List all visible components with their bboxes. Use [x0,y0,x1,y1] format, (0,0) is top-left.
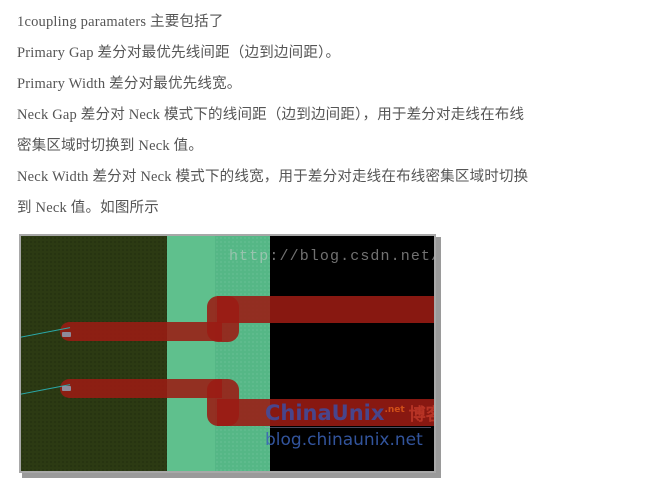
watermark-divider [265,427,431,428]
watermark-chinaunix-url: blog.chinaunix.net [265,430,434,450]
region-green-plain [167,236,215,471]
paragraph-primary-width: Primary Width 差分对最优先线宽。 [17,69,647,100]
pad-negative [62,386,71,391]
watermark-chinaunix-cn: 博客 [409,405,434,425]
paragraph-primary-gap: Primary Gap 差分对最优先线间距（边到边间距）。 [17,38,647,69]
paragraph-neck-gap-line2: 密集区域时切换到 Neck 值。 [17,131,647,162]
paragraph-neck-width-line2: 到 Neck 值。如图所示 [17,193,647,224]
region-green-textured [215,236,270,471]
watermark-chinaunix-name: ChinaUnix [265,401,384,425]
watermark-chinaunix: ChinaUnix.net博客 blog.chinaunix.net [265,399,434,450]
region-keepout-olive [21,236,167,471]
paragraph-neck-gap-line1: Neck Gap 差分对 Neck 模式下的线间距（边到边间距），用于差分对走线… [17,100,647,131]
pad-positive [62,332,71,337]
figure-border: http://blog.csdn.net/ ChinaUnix.net博客 bl… [19,234,436,473]
pcb-layout-canvas: http://blog.csdn.net/ ChinaUnix.net博客 bl… [21,236,434,471]
figure-differential-pair: http://blog.csdn.net/ ChinaUnix.net博客 bl… [19,234,441,478]
trace-positive-neck-segment [217,296,434,323]
article-body: 1coupling paramaters 主要包括了 Primary Gap 差… [17,0,647,224]
watermark-csdn-url: http://blog.csdn.net/ [229,248,434,265]
trace-negative-primary-segment [60,379,222,398]
paragraph-coupling-intro: 1coupling paramaters 主要包括了 [17,0,647,38]
paragraph-neck-width-line1: Neck Width 差分对 Neck 模式下的线宽，用于差分对走线在布线密集区… [17,162,647,193]
watermark-chinaunix-logo: ChinaUnix.net博客 [265,399,434,426]
trace-positive-primary-segment [60,322,222,341]
watermark-chinaunix-tld: .net [384,405,404,415]
